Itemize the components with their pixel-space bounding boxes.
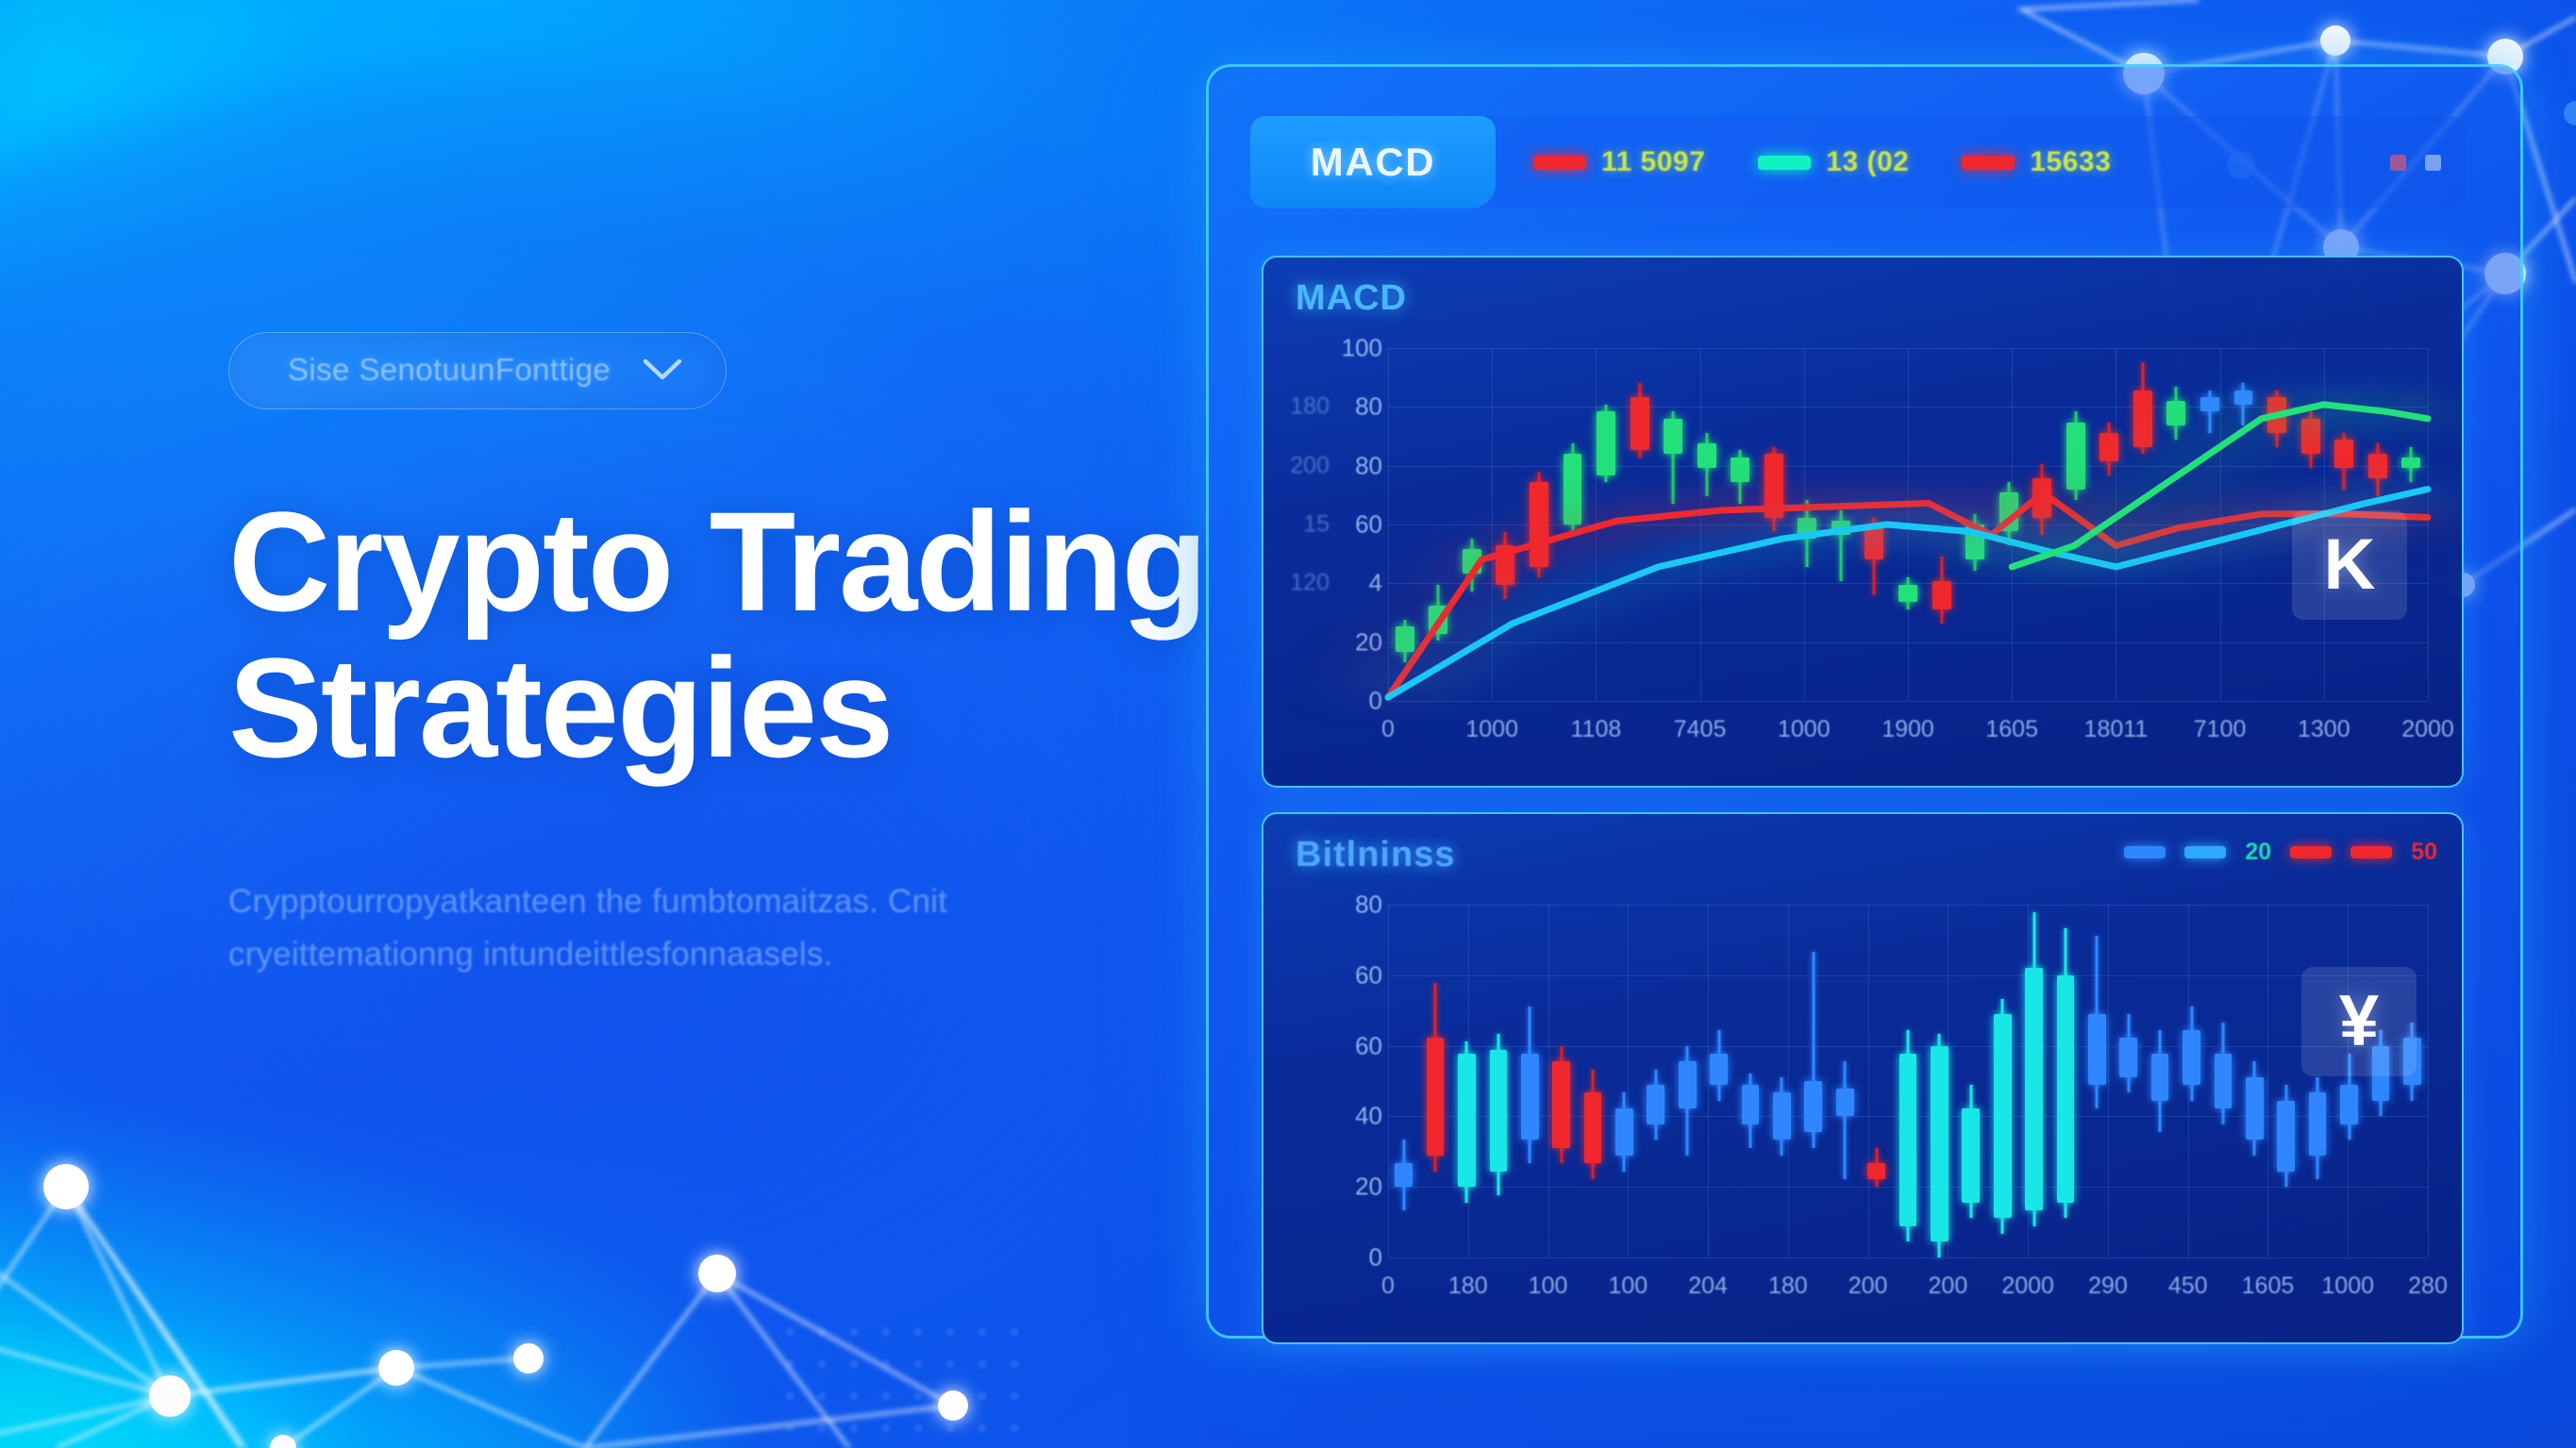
background-vignette xyxy=(0,0,2576,1448)
poster-canvas: Sise SenotuunFonttige Crypto Trading Str… xyxy=(0,0,2576,1448)
